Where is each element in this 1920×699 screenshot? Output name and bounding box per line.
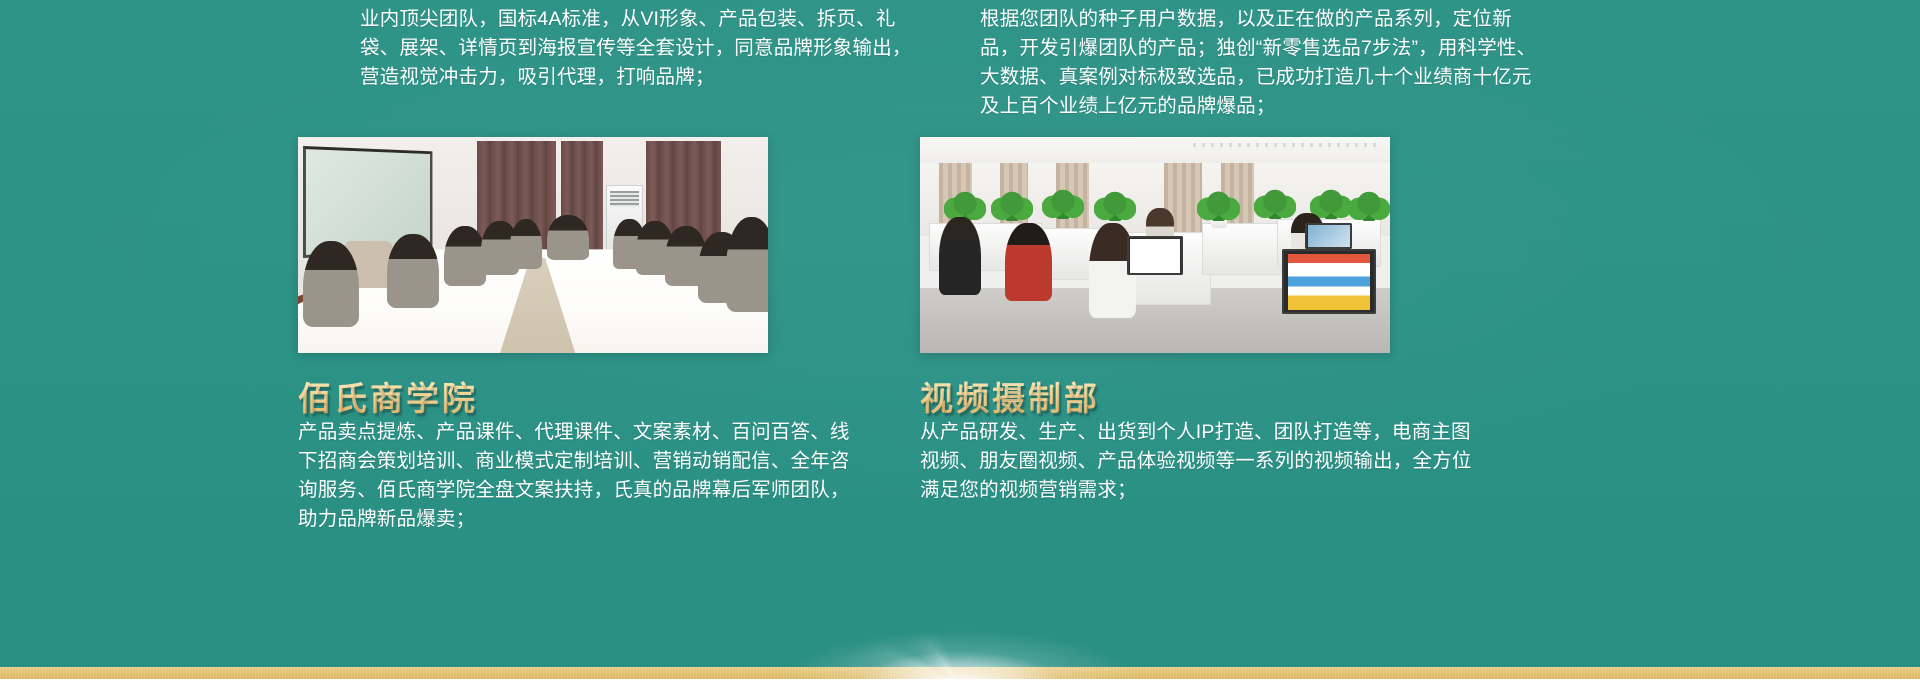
photo-boardroom-meeting <box>298 137 768 353</box>
content-stage: 业内顶尖团队，国标4A标准，从VI形象、产品包装、拆页、礼袋、展架、详情页到海报… <box>0 0 1920 699</box>
person-left-2 <box>387 234 439 307</box>
potted-plant-2 <box>991 189 1033 221</box>
office-scene <box>920 137 1390 353</box>
bottom-white-strip <box>0 679 1920 699</box>
employee-6-foreground <box>1221 245 1287 353</box>
person-head-of-table <box>547 215 589 260</box>
monitor-foreground <box>1282 249 1376 314</box>
column-design: 业内顶尖团队，国标4A标准，从VI形象、产品包装、拆页、礼袋、展架、详情页到海报… <box>360 0 940 92</box>
intro-paragraph-design: 业内顶尖团队，国标4A标准，从VI形象、产品包装、拆页、礼袋、展架、详情页到海报… <box>360 0 930 92</box>
person-right-5 <box>726 217 768 312</box>
person-left-1 <box>303 241 359 327</box>
potted-plant-8 <box>1348 189 1390 221</box>
employee-4 <box>1146 208 1174 238</box>
body-paragraph-design: 产品卖点提炼、产品课件、代理课件、文案素材、百问百答、线下招商会策划培训、商业模… <box>298 418 858 534</box>
monitor-right-rear-content <box>1308 225 1349 247</box>
potted-plant-6 <box>1254 187 1296 219</box>
column-video: 根据您团队的种子用户数据，以及正在做的产品系列，定位新品，开发引爆团队的产品；独… <box>980 0 1560 121</box>
potted-plant-5 <box>1197 189 1239 221</box>
boardroom-scene <box>298 137 768 353</box>
body-paragraph-video: 从产品研发、生产、出货到个人IP打造、团队打造等，电商主图视频、朋友圈视频、产品… <box>920 418 1480 505</box>
potted-plant-4 <box>1094 189 1136 221</box>
two-column-layout: 业内顶尖团队，国标4A标准，从VI形象、产品包装、拆页、礼袋、展架、详情页到海报… <box>360 0 1560 640</box>
potted-plant-7 <box>1310 187 1352 219</box>
employee-1 <box>939 217 981 295</box>
section-heading-video: 视频摄制部 <box>920 372 1100 420</box>
monitor-1-content <box>1130 239 1180 272</box>
section-heading-design: 佰氏商学院 <box>298 372 478 420</box>
photo-open-plan-office <box>920 137 1390 353</box>
monitor-right-rear <box>1305 223 1352 249</box>
person-left-5 <box>510 219 543 269</box>
employee-2 <box>1005 223 1052 301</box>
person-left-3 <box>444 226 486 286</box>
monitor-1 <box>1127 236 1183 275</box>
intro-paragraph-video: 根据您团队的种子用户数据，以及正在做的产品系列，定位新品，开发引爆团队的产品；独… <box>980 0 1550 121</box>
bottom-gold-bar <box>0 667 1920 679</box>
monitor-foreground-content <box>1288 254 1371 310</box>
potted-plant-3 <box>1042 187 1084 219</box>
